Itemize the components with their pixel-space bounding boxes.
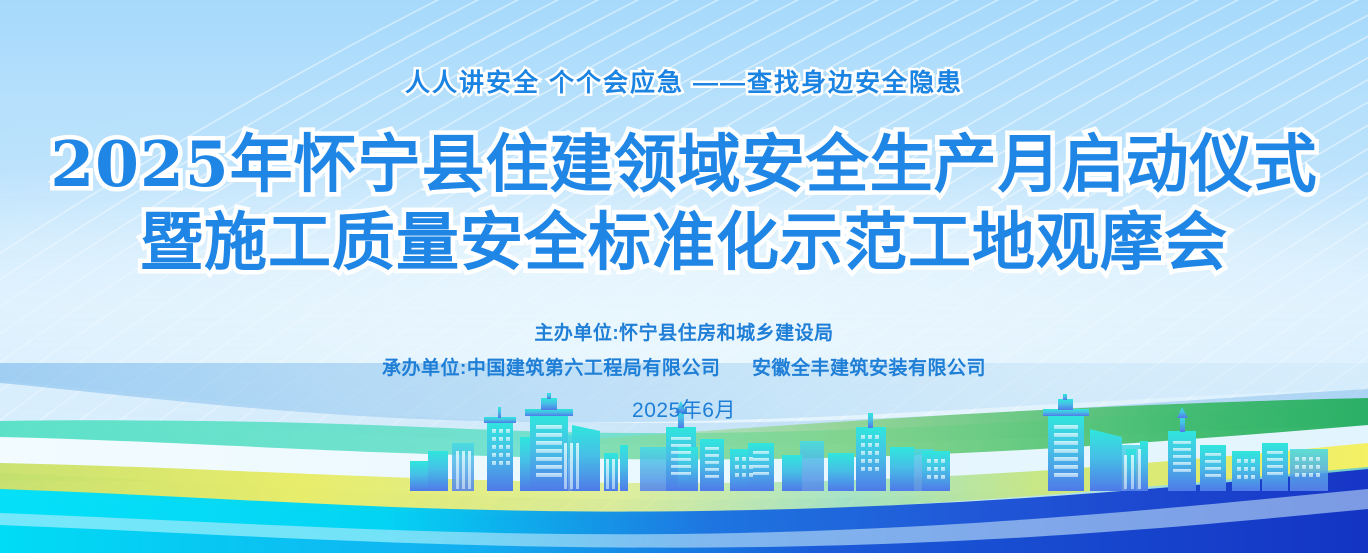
coorganizer-2: 安徽全丰建筑安装有限公司 [752, 358, 986, 379]
organizer-host: 主办单位:怀宁县住房和城乡建设局 [0, 318, 1368, 345]
poster-content: 人人讲安全 个个会应急 ——查找身边安全隐患 2025年怀宁县住建领域安全生产月… [0, 0, 1368, 553]
coorganizer-1: 承办单位:中国建筑第六工程局有限公司 [382, 358, 720, 379]
poster-date: 2025年6月 [0, 394, 1368, 424]
poster-slogan: 人人讲安全 个个会应急 ——查找身边安全隐患 [0, 63, 1368, 99]
event-poster: 人人讲安全 个个会应急 ——查找身边安全隐患 2025年怀宁县住建领域安全生产月… [0, 0, 1368, 553]
poster-title-line-2: 暨施工质量安全标准化示范工地观摩会 [0, 192, 1368, 283]
organizer-coorganizers: 承办单位:中国建筑第六工程局有限公司 安徽全丰建筑安装有限公司 [0, 353, 1368, 380]
